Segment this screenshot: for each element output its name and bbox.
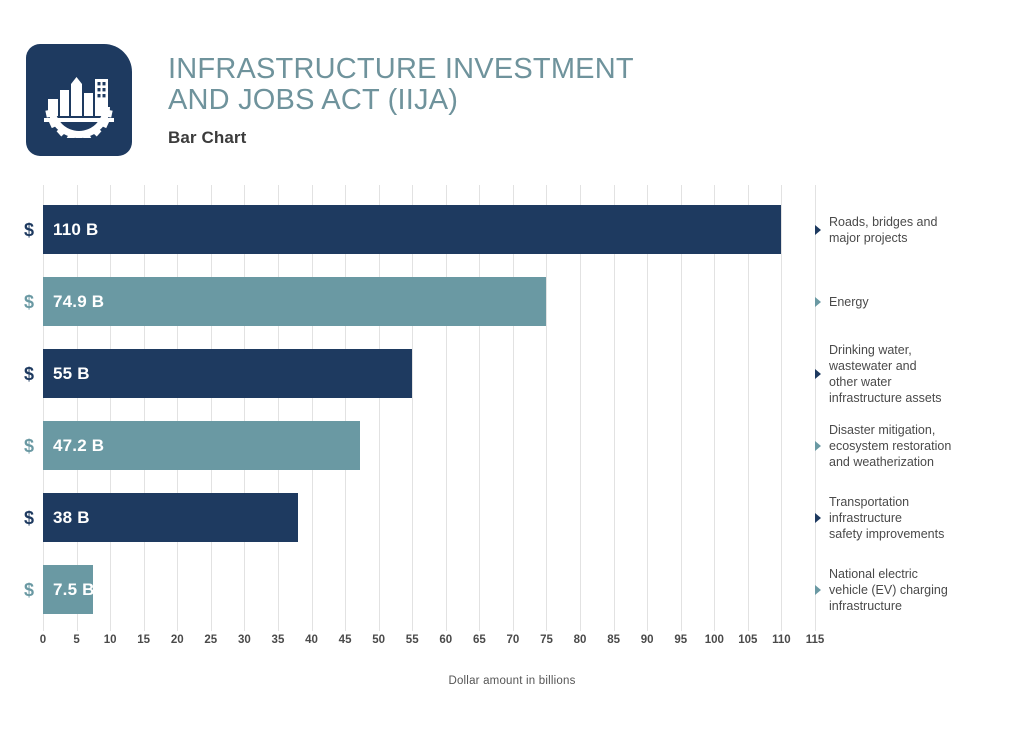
triangle-right-icon <box>815 585 821 595</box>
x-tick-label: 55 <box>406 634 419 646</box>
x-tick-label: 35 <box>272 634 285 646</box>
x-tick-label: 85 <box>607 634 620 646</box>
chart-page: INFRASTRUCTURE INVESTMENT AND JOBS ACT (… <box>0 0 1024 732</box>
bar-row: $7.5 B <box>43 565 815 614</box>
bar[interactable]: $7.5 B <box>43 565 93 614</box>
bar-value-label: 7.5 B <box>43 580 95 600</box>
x-tick-label: 110 <box>772 634 791 646</box>
bar-row: $38 B <box>43 493 815 542</box>
bar-value-label: 55 B <box>43 364 90 384</box>
chart-subtitle: Bar Chart <box>168 128 868 148</box>
bar[interactable]: $38 B <box>43 493 298 542</box>
x-tick-label: 105 <box>738 634 757 646</box>
bar[interactable]: $55 B <box>43 349 412 398</box>
bar-series: $110 B$74.9 B$55 B$47.2 B$38 B$7.5 B <box>43 185 815 631</box>
category-label-item[interactable]: Roads, bridges and major projects <box>815 214 1015 246</box>
category-label-text: Transportation infrastructure safety imp… <box>829 494 944 542</box>
chart-header: INFRASTRUCTURE INVESTMENT AND JOBS ACT (… <box>26 44 986 164</box>
x-tick-label: 75 <box>540 634 553 646</box>
x-tick-label: 90 <box>641 634 654 646</box>
page-title: INFRASTRUCTURE INVESTMENT AND JOBS ACT (… <box>168 54 868 116</box>
x-tick-label: 50 <box>372 634 385 646</box>
bar-value-label: 47.2 B <box>43 436 104 456</box>
dollar-sign-icon: $ <box>24 421 34 470</box>
x-tick-label: 40 <box>305 634 318 646</box>
bar-row: $74.9 B <box>43 277 815 326</box>
triangle-right-icon <box>815 513 821 523</box>
x-tick-label: 70 <box>507 634 520 646</box>
x-tick-label: 10 <box>104 634 117 646</box>
bar-value-label: 110 B <box>43 220 98 240</box>
dollar-sign-icon: $ <box>24 349 34 398</box>
title-block: INFRASTRUCTURE INVESTMENT AND JOBS ACT (… <box>168 54 868 148</box>
x-tick-label: 0 <box>40 634 46 646</box>
category-label-text: Roads, bridges and major projects <box>829 214 937 246</box>
x-tick-label: 65 <box>473 634 486 646</box>
x-tick-label: 20 <box>171 634 184 646</box>
category-label-item[interactable]: Drinking water, wastewater and other wat… <box>815 342 1015 406</box>
dollar-sign-icon: $ <box>24 205 34 254</box>
iija-logo-badge <box>26 44 132 156</box>
category-label-item[interactable]: Disaster mitigation, ecosystem restorati… <box>815 422 1015 470</box>
category-label-item[interactable]: Transportation infrastructure safety imp… <box>815 494 1015 542</box>
plot-area: $110 B$74.9 B$55 B$47.2 B$38 B$7.5 B <box>43 185 815 631</box>
dollar-sign-icon: $ <box>24 493 34 542</box>
bar-value-label: 38 B <box>43 508 90 528</box>
x-tick-label: 95 <box>674 634 687 646</box>
bar-value-label: 74.9 B <box>43 292 104 312</box>
dollar-sign-icon: $ <box>24 565 34 614</box>
triangle-right-icon <box>815 225 821 235</box>
x-tick-label: 45 <box>339 634 352 646</box>
category-label-text: Disaster mitigation, ecosystem restorati… <box>829 422 951 470</box>
category-label-text: Drinking water, wastewater and other wat… <box>829 342 942 406</box>
x-tick-label: 80 <box>574 634 587 646</box>
category-label-item[interactable]: Energy <box>815 294 1015 310</box>
triangle-right-icon <box>815 369 821 379</box>
bar-row: $55 B <box>43 349 815 398</box>
x-tick-label: 100 <box>705 634 724 646</box>
x-axis-caption: Dollar amount in billions <box>0 675 1024 687</box>
city-skyline-gear-icon <box>42 62 116 138</box>
dollar-sign-icon: $ <box>24 277 34 326</box>
bar-row: $47.2 B <box>43 421 815 470</box>
x-axis-ticks: 0510152025303540455055606570758085909510… <box>43 634 815 654</box>
bar[interactable]: $110 B <box>43 205 781 254</box>
x-tick-label: 5 <box>73 634 79 646</box>
category-label-text: Energy <box>829 294 869 310</box>
category-labels: Roads, bridges and major projectsEnergyD… <box>815 185 1015 631</box>
category-label-item[interactable]: National electric vehicle (EV) charging … <box>815 566 1015 614</box>
bar[interactable]: $74.9 B <box>43 277 546 326</box>
category-label-text: National electric vehicle (EV) charging … <box>829 566 948 614</box>
triangle-right-icon <box>815 297 821 307</box>
x-tick-label: 30 <box>238 634 251 646</box>
x-tick-label: 60 <box>439 634 452 646</box>
x-tick-label: 115 <box>806 634 825 646</box>
bar-row: $110 B <box>43 205 815 254</box>
x-tick-label: 25 <box>204 634 217 646</box>
bar[interactable]: $47.2 B <box>43 421 360 470</box>
x-tick-label: 15 <box>137 634 150 646</box>
triangle-right-icon <box>815 441 821 451</box>
